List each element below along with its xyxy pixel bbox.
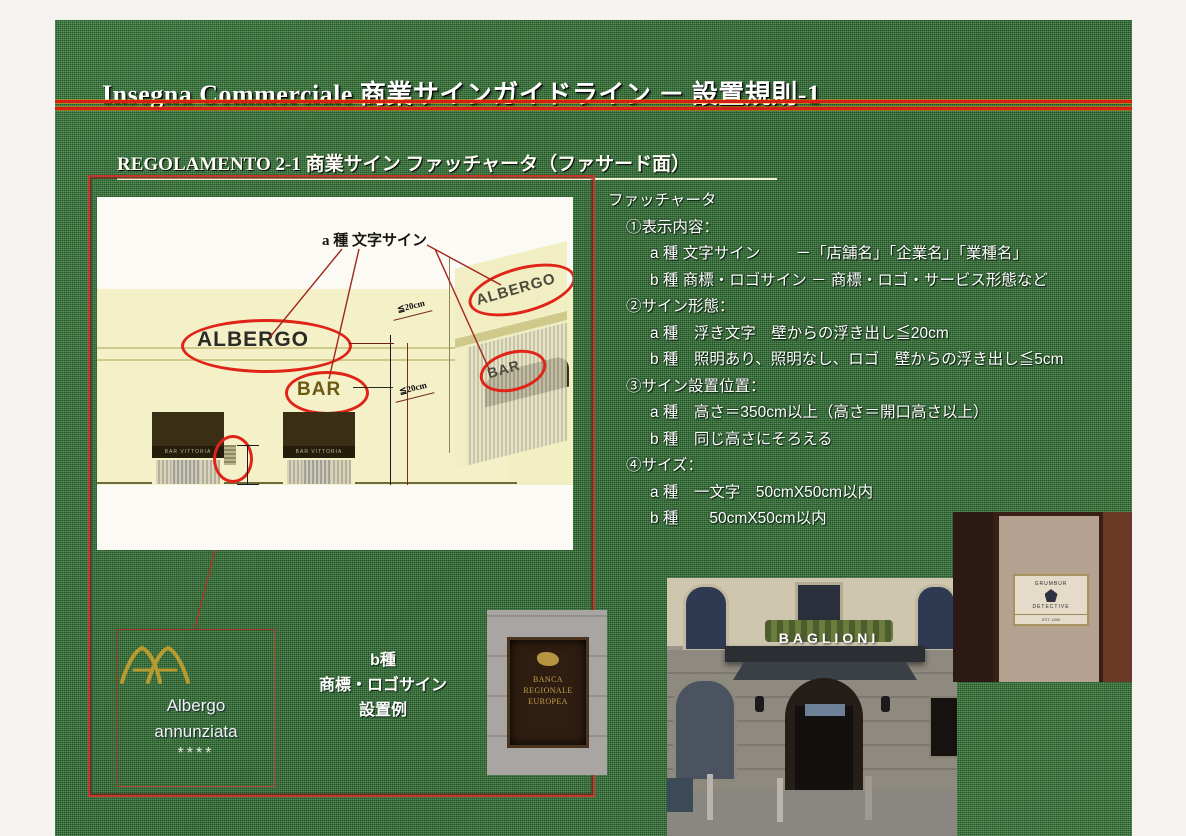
logo-example-card: Albergo annunziata **** (117, 629, 275, 787)
shopfront-right-fascia (283, 412, 355, 446)
dim-tick-1 (237, 445, 259, 446)
page-title: Insegna Commerciale 商業サインガイドライン － 設置規則-1 (102, 74, 1002, 111)
dim-leader-bar (353, 387, 393, 388)
shopfront-left: BAR VITTORIA (152, 412, 224, 484)
plaque-emblem-icon (1045, 589, 1058, 602)
logo-stars: **** (118, 745, 274, 763)
wall-lamp-right-icon (881, 696, 890, 712)
upper-window-left (683, 584, 729, 652)
plaque-sign-line3: EST. 1896 (1015, 614, 1087, 622)
guideline-line: b 種 同じ高さにそろえる (650, 427, 1128, 454)
logo-caption-line3: 設置例 (293, 698, 473, 723)
banca-emblem-icon (537, 652, 559, 666)
arched-window-left (673, 678, 737, 782)
banca-sign-line2: REGIONALE (510, 685, 586, 696)
plaque-sign: GRUMBUR DETECTIVE EST. 1896 (1013, 574, 1089, 626)
shopfront-left-glass (171, 460, 200, 484)
dim-witness-v2 (390, 335, 391, 485)
guideline-line: a 種 文字サイン －「店舗名」「企業名」「業種名」 (650, 241, 1128, 268)
title-rule-top (55, 100, 1132, 103)
shopfront-right-sign-text: BAR VITTORIA (283, 446, 355, 458)
guideline-line: b 種 商標・ロゴサイン － 商標・ロゴ・サービス形態など (650, 268, 1128, 295)
plaque-sign-line2: DETECTIVE (1015, 604, 1087, 610)
logo-name-line2: annunziata (118, 719, 274, 745)
upper-window-right (915, 584, 957, 652)
guideline-line: a 種 高さ＝350cm以上（高さ＝開口高さ以上） (650, 400, 1128, 427)
facade-illustration: ALBERGO BAR BAR VITTORIA BAR VITTORIA (97, 197, 573, 550)
entrance-transom (805, 704, 845, 716)
logo-name-line1: Albergo (118, 693, 274, 719)
guideline-line: ②サイン形態： (626, 294, 1128, 321)
parked-car (667, 778, 693, 812)
entrance-canopy (725, 646, 925, 662)
bollard-1 (707, 774, 713, 820)
title-rule-bottom (55, 107, 1132, 110)
banca-sign-line3: EUROPEA (510, 696, 586, 707)
logo-caption-line2: 商標・ロゴサイン (293, 673, 473, 698)
aa-monogram-icon (118, 644, 192, 684)
shopfront-right: BAR VITTORIA (283, 412, 355, 484)
wall-lamp-left-icon (755, 696, 764, 712)
callout-label: a 種 文字サイン (322, 229, 427, 250)
persp-edge (449, 257, 450, 453)
bollard-2 (777, 778, 783, 822)
plaque-bg-right (1103, 512, 1132, 682)
dim-tick-2 (237, 484, 259, 485)
perspective-view: ALBERGO BAR ≦20cm ≦20cm (427, 215, 573, 505)
plaque-sign-line1: GRUMBUR (1015, 581, 1087, 587)
baglioni-sign-text: BAGLIONI (759, 630, 899, 646)
guideline-line: a 種 浮き文字 壁からの浮き出し≦20cm (650, 321, 1128, 348)
dim-witness-v1 (247, 445, 248, 485)
wall-plaque-photo: GRUMBUR DETECTIVE EST. 1896 (953, 512, 1132, 682)
shopfront-right-glass (302, 460, 331, 484)
logo-caption-line1: b種 (293, 648, 473, 673)
baglioni-hotel-photo: BAGLIONI (667, 578, 957, 836)
shopfront-right-signband: BAR VITTORIA (283, 446, 355, 458)
plaque-bg-left (953, 512, 993, 682)
guideline-line: a 種 一文字 50cmX50cm以内 (650, 480, 1128, 507)
persp-shutter (467, 323, 567, 466)
slide-board: Insegna Commerciale 商業サインガイドライン － 設置規則-1… (55, 20, 1132, 836)
banca-sign-line1: BANCA (510, 674, 586, 685)
guideline-line: b 種 照明あり、照明なし、ロゴ 壁からの浮き出し≦5cm (650, 347, 1128, 374)
guideline-text-block: ファッチャータ ①表示内容： a 種 文字サイン －「店舗名」「企業名」「業種名… (608, 188, 1128, 533)
dim-leader-albergo (349, 343, 394, 344)
shopfront-left-fascia (152, 412, 224, 446)
logo-example-caption: b種 商標・ロゴサイン 設置例 (293, 648, 473, 723)
guideline-line: ③サイン設置位置： (626, 374, 1128, 401)
side-window-right (929, 696, 957, 758)
guideline-heading: ファッチャータ (608, 188, 1128, 215)
bollard-3 (865, 776, 872, 820)
highlight-ellipse-albergo (181, 319, 352, 373)
highlight-ellipse-bar (285, 371, 369, 415)
banca-plaque-photo: BANCA REGIONALE EUROPEA (487, 610, 607, 775)
dim-witness-v3 (407, 343, 408, 485)
guideline-line: ④サイズ： (626, 453, 1128, 480)
guideline-line: ①表示内容： (626, 215, 1128, 242)
banca-plaque: BANCA REGIONALE EUROPEA (507, 637, 589, 748)
